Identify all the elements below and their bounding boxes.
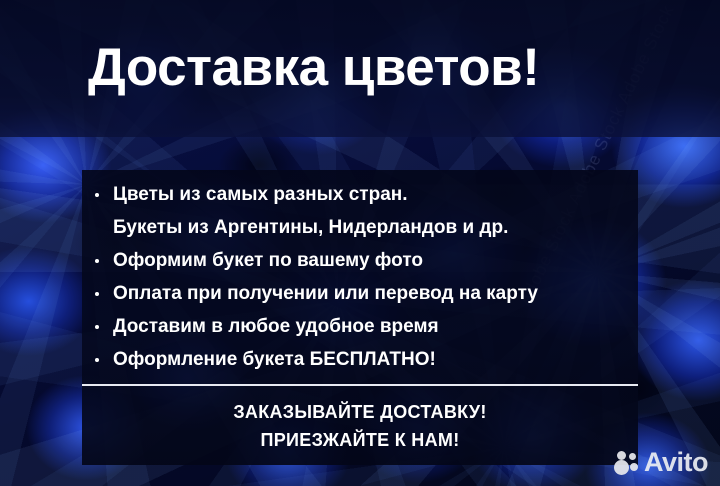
list-item-label: Оформление букета БЕСПЛАТНО! [113, 350, 436, 369]
list-item-label: Оформим букет по вашему фото [113, 251, 423, 270]
bullet-icon [95, 259, 99, 263]
horizontal-divider [82, 384, 638, 386]
list-item: Букеты из Аргентины, Нидерландов и др. [82, 211, 638, 244]
call-to-action: ЗАКАЗЫВАЙТЕ ДОСТАВКУ! ПРИЕЗЖАЙТЕ К НАМ! [82, 398, 638, 454]
list-item: Оформление букета БЕСПЛАТНО! [82, 343, 638, 376]
cta-line-order: ЗАКАЗЫВАЙТЕ ДОСТАВКУ! [82, 398, 638, 426]
flower-delivery-banner: Adobe Stock Adobe Stock Adobe Stock Дост… [0, 0, 720, 486]
avito-wordmark: Avito [644, 449, 708, 476]
list-item-label: Оплата при получении или перевод на карт… [113, 284, 538, 303]
avito-dots-icon [614, 451, 638, 475]
list-item: Оплата при получении или перевод на карт… [82, 277, 638, 310]
list-item: Оформим букет по вашему фото [82, 244, 638, 277]
list-item-label: Цветы из самых разных стран. [113, 185, 408, 204]
bullet-icon [95, 193, 99, 197]
bullet-icon [95, 325, 99, 329]
bullet-icon [95, 358, 99, 362]
bullet-icon [95, 292, 99, 296]
list-item: Цветы из самых разных стран. [82, 178, 638, 211]
list-item-label: Доставим в любое удобное время [113, 317, 439, 336]
content-panel: Цветы из самых разных стран. Букеты из А… [82, 170, 638, 465]
cta-line-visit: ПРИЕЗЖАЙТЕ К НАМ! [82, 426, 638, 454]
avito-watermark: Avito [614, 449, 708, 476]
list-item: Доставим в любое удобное время [82, 310, 638, 343]
page-title: Доставка цветов! [88, 41, 539, 94]
feature-list: Цветы из самых разных стран. Букеты из А… [82, 178, 638, 376]
list-item-label: Букеты из Аргентины, Нидерландов и др. [113, 218, 508, 237]
